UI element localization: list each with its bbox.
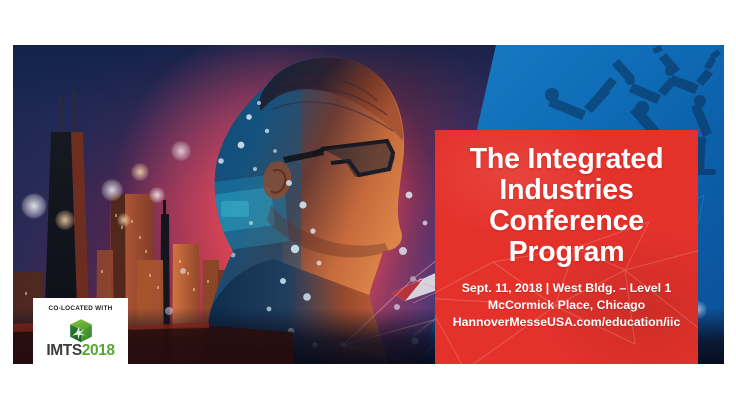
- title-line-3: Conference: [445, 206, 688, 237]
- title-line-4: Program: [445, 237, 688, 268]
- conference-banner-image: The Integrated Industries Conference Pro…: [13, 45, 724, 364]
- conference-title-panel: The Integrated Industries Conference Pro…: [435, 130, 698, 364]
- page-title: The Integrated Industries Conference Pro…: [435, 130, 698, 268]
- imts-year-text: 2018: [82, 342, 115, 359]
- imts-brand-text: IMTS: [46, 342, 81, 359]
- event-venue: McCormick Place, Chicago: [441, 297, 692, 314]
- imts-colocated-badge: CO-LOCATED WITH: [33, 298, 128, 364]
- title-line-2: Industries: [445, 175, 688, 206]
- colocated-label: CO-LOCATED WITH: [33, 298, 128, 312]
- screenshot-canvas: The Integrated Industries Conference Pro…: [0, 0, 736, 414]
- event-date-location: Sept. 11, 2018 | West Bldg. – Level 1: [441, 280, 692, 297]
- title-line-1: The Integrated: [445, 144, 688, 175]
- event-details: Sept. 11, 2018 | West Bldg. – Level 1 Mc…: [435, 280, 698, 331]
- imts-wordmark: IMTS2018: [33, 343, 128, 359]
- event-url[interactable]: HannoverMesseUSA.com/education/iic: [441, 314, 692, 331]
- imts-cube-icon: [68, 318, 94, 344]
